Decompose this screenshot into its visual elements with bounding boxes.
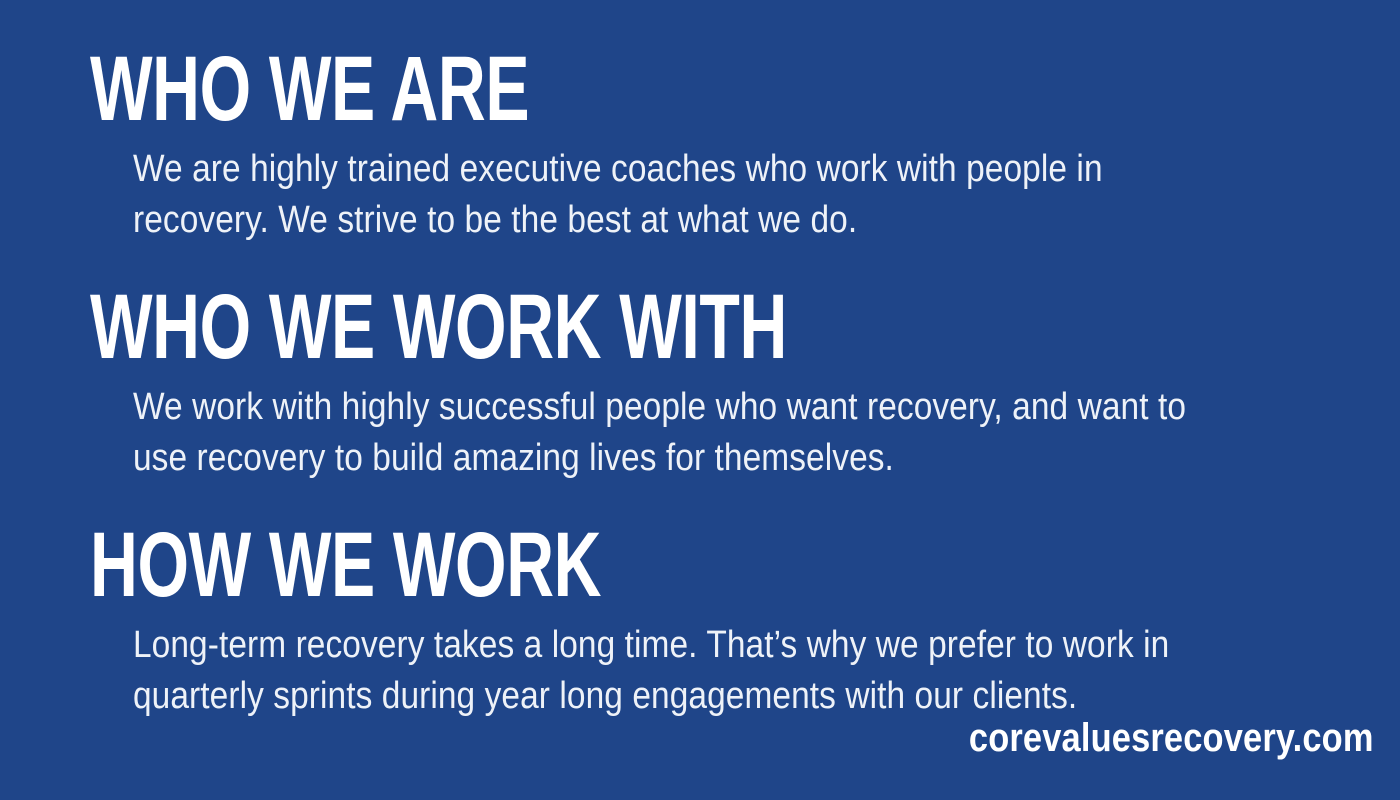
- section-heading-how-we-work: HOW WE WORK: [90, 520, 1004, 610]
- section-who-we-are: WHO WE ARE We are highly trained executi…: [90, 44, 1360, 246]
- section-who-we-work-with: WHO WE WORK WITH We work with highly suc…: [90, 282, 1360, 484]
- section-how-we-work: HOW WE WORK Long-term recovery takes a l…: [90, 520, 1360, 722]
- section-heading-who-we-work-with: WHO WE WORK WITH: [90, 282, 1004, 372]
- promotional-slide: WHO WE ARE We are highly trained executi…: [0, 0, 1400, 800]
- content-column: WHO WE ARE We are highly trained executi…: [90, 40, 1360, 722]
- section-body-how-we-work: Long-term recovery takes a long time. Th…: [133, 620, 1213, 722]
- website-url[interactable]: corevaluesrecovery.com: [969, 718, 1374, 758]
- section-heading-who-we-are: WHO WE ARE: [90, 44, 1004, 134]
- section-body-who-we-are: We are highly trained executive coaches …: [133, 144, 1213, 246]
- section-body-who-we-work-with: We work with highly successful people wh…: [133, 382, 1213, 484]
